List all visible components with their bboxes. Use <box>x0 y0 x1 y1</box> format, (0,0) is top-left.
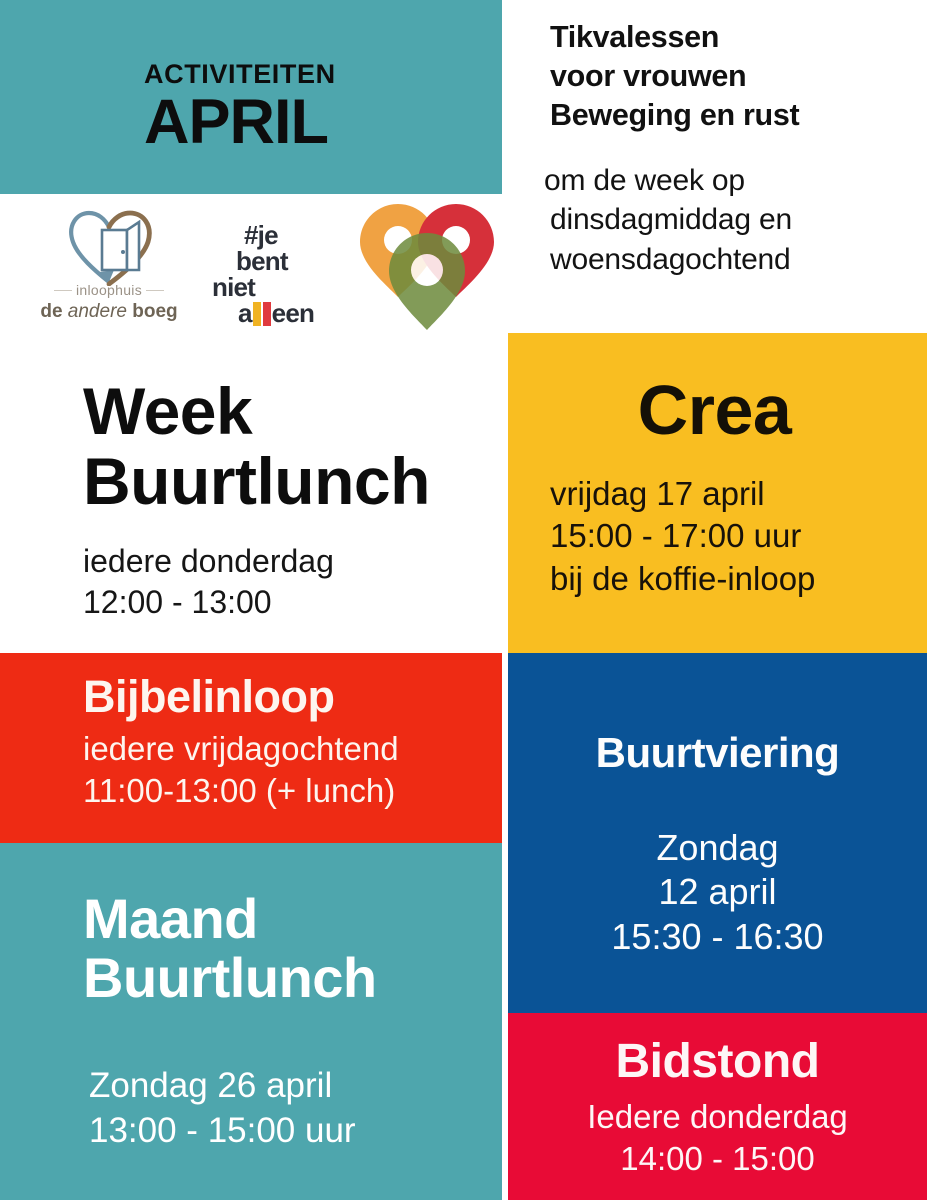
logo-caption-main: de andere boeg <box>26 301 192 323</box>
intro-body-line: dinsdagmiddag en <box>550 200 903 239</box>
logo-line-alleen: aeen <box>212 300 352 326</box>
logo-line-je: #je <box>212 222 352 248</box>
logo-line-bent: bent <box>212 248 352 274</box>
event-detail: vrijdag 17 april15:00 - 17:00 uurbij de … <box>550 473 907 600</box>
event-detail-line: 12 april <box>658 871 776 912</box>
event-card-bijbelinloop: Bijbelinloop iedere vrijdagochtend11:00-… <box>0 653 502 843</box>
event-title-line: Buurtlunch <box>83 946 377 1009</box>
inloophuis-de-andere-boeg-logo: inloophuis de andere boeg <box>26 208 192 330</box>
event-detail: Zondag12 april15:30 - 16:30 <box>528 826 907 960</box>
logo-line-alleen-pre: a <box>238 298 252 328</box>
pin-green-icon <box>389 233 465 330</box>
logo-line-alleen-post: een <box>272 298 314 328</box>
event-detail-line: iedere vrijdagochtend <box>83 730 399 767</box>
event-card-buurtviering: Buurtviering Zondag12 april15:30 - 16:30 <box>508 653 927 1013</box>
event-card-week-buurtlunch: WeekBuurtlunch iedere donderdag12:00 - 1… <box>0 333 502 653</box>
event-detail-line: bij de koffie-inloop <box>550 560 815 597</box>
event-detail: iedere donderdag12:00 - 13:00 <box>83 541 482 623</box>
event-detail-line: 14:00 - 15:00 <box>620 1140 815 1177</box>
logo-caption-pre: de <box>40 301 67 322</box>
red-bar-icon <box>263 302 271 326</box>
header-kicker: ACTIVITEITEN <box>144 61 336 88</box>
event-detail-line: iedere donderdag <box>83 543 334 579</box>
event-detail-line: 15:00 - 17:00 uur <box>550 517 801 554</box>
event-detail-line: Zondag <box>656 827 778 868</box>
event-detail-line: Zondag 26 april <box>89 1066 332 1105</box>
header-title-group: ACTIVITEITEN APRIL <box>144 61 336 154</box>
event-detail-line: Iedere donderdag <box>587 1098 848 1135</box>
event-detail: Iedere donderdag14:00 - 15:00 <box>528 1096 907 1180</box>
event-title-line: Week <box>83 374 252 448</box>
je-bent-niet-alleen-logo: #je bent niet aeen <box>212 222 352 326</box>
event-title: Crea <box>550 373 907 447</box>
intro-text-block: Tikvalessen voor vrouwen Beweging en rus… <box>512 0 927 333</box>
logo-caption-em: andere <box>68 301 127 322</box>
intro-heading-line: Tikvalessen <box>550 18 903 57</box>
event-detail: iedere vrijdagochtend11:00-13:00 (+ lunc… <box>83 728 488 812</box>
event-title: MaandBuurtlunch <box>83 889 488 1008</box>
intro-body-line: woensdagochtend <box>550 240 903 279</box>
logo-band: inloophuis de andere boeg #je bent niet … <box>0 194 502 333</box>
logo-caption-top: inloophuis <box>54 282 164 298</box>
intro-body-line: om de week op <box>544 161 903 200</box>
event-card-bidstond: Bidstond Iedere donderdag14:00 - 15:00 <box>508 1013 927 1200</box>
event-title-line: Maand <box>83 887 258 950</box>
poster-canvas: ACTIVITEITEN APRIL Tikvalessen voor vrou… <box>0 0 927 1200</box>
logo-line-niet: niet <box>212 274 352 300</box>
logo-caption-post: boeg <box>127 301 178 322</box>
event-detail-line: 15:30 - 16:30 <box>611 916 823 957</box>
event-detail-line: 12:00 - 13:00 <box>83 584 272 620</box>
header-band: ACTIVITEITEN APRIL <box>0 0 502 194</box>
event-title: Bijbelinloop <box>83 673 488 721</box>
event-detail-line: 11:00-13:00 (+ lunch) <box>83 772 395 809</box>
intro-heading-line: voor vrouwen <box>550 57 903 96</box>
event-title: Bidstond <box>528 1037 907 1088</box>
intro-body: om de week op dinsdagmiddag en woensdago… <box>550 161 903 279</box>
event-detail: Zondag 26 april13:00 - 15:00 uur <box>83 1064 488 1154</box>
event-card-maand-buurtlunch: MaandBuurtlunch Zondag 26 april13:00 - 1… <box>0 843 502 1200</box>
event-detail-line: 13:00 - 15:00 uur <box>89 1111 356 1150</box>
heart-of-map-pins-logo <box>356 200 498 333</box>
event-title: WeekBuurtlunch <box>83 377 482 517</box>
event-detail-line: vrijdag 17 april <box>550 475 765 512</box>
yellow-bar-icon <box>253 302 261 326</box>
event-title: Buurtviering <box>528 731 907 776</box>
event-card-crea: Crea vrijdag 17 april15:00 - 17:00 uurbi… <box>508 333 927 653</box>
page-title: APRIL <box>144 90 336 154</box>
heart-door-icon <box>64 208 156 286</box>
logo-caption: inloophuis de andere boeg <box>26 282 192 323</box>
intro-heading-line: Beweging en rust <box>550 96 903 135</box>
event-title-line: Buurtlunch <box>83 444 430 518</box>
intro-heading: Tikvalessen voor vrouwen Beweging en rus… <box>550 18 903 135</box>
